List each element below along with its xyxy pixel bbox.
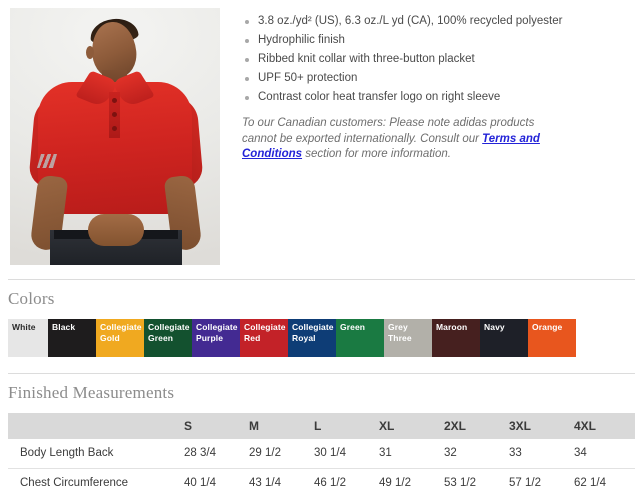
color-swatch-label: Grey Three xyxy=(388,322,430,343)
color-swatch[interactable]: Collegiate Red xyxy=(240,319,288,357)
color-swatch-label: Collegiate Purple xyxy=(196,322,238,343)
color-swatch[interactable]: Collegiate Gold xyxy=(96,319,144,357)
color-swatch-label: White xyxy=(12,322,46,333)
color-swatch-label: Collegiate Green xyxy=(148,322,190,343)
list-item: 3.8 oz./yd² (US), 6.3 oz./L yd (CA), 100… xyxy=(242,14,633,29)
product-specs: 3.8 oz./yd² (US), 6.3 oz./L yd (CA), 100… xyxy=(220,8,643,265)
measurement-value: 40 1/4 xyxy=(180,468,245,492)
color-swatch[interactable]: Collegiate Green xyxy=(144,319,192,357)
table-column-header: XL xyxy=(375,413,440,439)
color-swatch[interactable]: Green xyxy=(336,319,384,357)
color-swatch[interactable]: Black xyxy=(48,319,96,357)
product-detail-page: 3.8 oz./yd² (US), 6.3 oz./L yd (CA), 100… xyxy=(0,0,643,492)
model-ear xyxy=(86,46,94,59)
measurement-value: 53 1/2 xyxy=(440,468,505,492)
finished-measurements-table: SMLXL2XL3XL4XL Body Length Back28 3/429 … xyxy=(8,413,635,492)
measurements-heading: Finished Measurements xyxy=(0,374,643,413)
color-swatch[interactable]: Maroon xyxy=(432,319,480,357)
product-image[interactable] xyxy=(10,8,220,265)
measurement-value: 46 1/2 xyxy=(310,468,375,492)
table-header: SMLXL2XL3XL4XL xyxy=(8,413,635,439)
color-swatch-label: Collegiate Red xyxy=(244,322,286,343)
table-header-row: SMLXL2XL3XL4XL xyxy=(8,413,635,439)
table-row: Body Length Back28 3/429 1/230 1/4313233… xyxy=(8,439,635,468)
color-swatch[interactable]: Navy xyxy=(480,319,528,357)
measurement-value: 33 xyxy=(505,439,570,468)
measurement-value: 30 1/4 xyxy=(310,439,375,468)
color-swatch-label: Maroon xyxy=(436,322,478,333)
color-swatch-list: WhiteBlackCollegiate GoldCollegiate Gree… xyxy=(8,319,545,357)
measurement-label: Chest Circumference xyxy=(8,468,180,492)
measurement-label: Body Length Back xyxy=(8,439,180,468)
colors-heading: Colors xyxy=(0,280,643,319)
note-text-after: section for more information. xyxy=(302,148,451,160)
polo-button xyxy=(112,126,117,131)
polo-button xyxy=(112,98,117,103)
measurement-value: 34 xyxy=(570,439,635,468)
product-top-section: 3.8 oz./yd² (US), 6.3 oz./L yd (CA), 100… xyxy=(0,0,643,265)
table-column-header: 3XL xyxy=(505,413,570,439)
measurement-value: 57 1/2 xyxy=(505,468,570,492)
color-swatch-label: Collegiate Gold xyxy=(100,322,142,343)
color-swatch-label: Orange xyxy=(532,322,574,333)
measurement-value: 43 1/4 xyxy=(245,468,310,492)
measurement-value: 29 1/2 xyxy=(245,439,310,468)
measurement-value: 28 3/4 xyxy=(180,439,245,468)
measurement-value: 31 xyxy=(375,439,440,468)
table-row: Chest Circumference40 1/443 1/446 1/249 … xyxy=(8,468,635,492)
color-swatch-label: Collegiate Royal xyxy=(292,322,334,343)
table-column-header: S xyxy=(180,413,245,439)
table-column-header: M xyxy=(245,413,310,439)
list-item: Ribbed knit collar with three-button pla… xyxy=(242,52,633,67)
list-item: UPF 50+ protection xyxy=(242,71,633,86)
color-swatch[interactable]: Grey Three xyxy=(384,319,432,357)
table-column-header: 4XL xyxy=(570,413,635,439)
color-swatch-label: Green xyxy=(340,322,382,333)
list-item: Contrast color heat transfer logo on rig… xyxy=(242,90,633,105)
color-swatch[interactable]: Collegiate Royal xyxy=(288,319,336,357)
table-body: Body Length Back28 3/429 1/230 1/4313233… xyxy=(8,439,635,492)
table-column-header: L xyxy=(310,413,375,439)
color-swatch[interactable]: Orange xyxy=(528,319,576,357)
measurement-value: 62 1/4 xyxy=(570,468,635,492)
color-swatch-label: Black xyxy=(52,322,94,333)
measurement-value: 32 xyxy=(440,439,505,468)
measurement-value: 49 1/2 xyxy=(375,468,440,492)
list-item: Hydrophilic finish xyxy=(242,33,633,48)
model-hands xyxy=(88,214,144,246)
table-column-header: 2XL xyxy=(440,413,505,439)
color-swatch[interactable]: Collegiate Purple xyxy=(192,319,240,357)
table-column-header xyxy=(8,413,180,439)
feature-list: 3.8 oz./yd² (US), 6.3 oz./L yd (CA), 100… xyxy=(242,14,633,105)
color-swatch-label: Navy xyxy=(484,322,526,333)
polo-button xyxy=(112,112,117,117)
canadian-customers-note: To our Canadian customers: Please note a… xyxy=(242,116,547,163)
color-swatch[interactable]: White xyxy=(8,319,48,357)
